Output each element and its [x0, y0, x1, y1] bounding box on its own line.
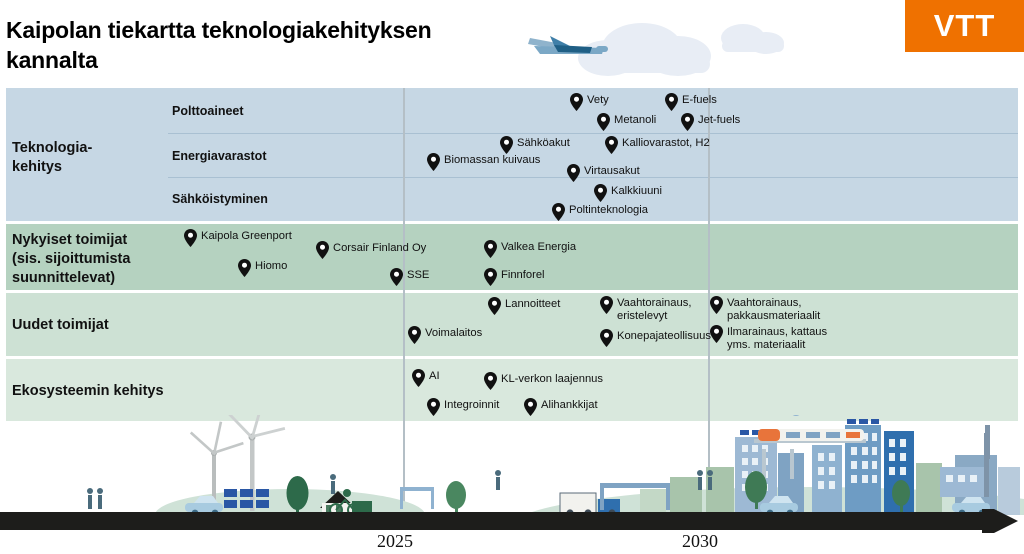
- pin-label: AI: [429, 369, 440, 383]
- landscape-illustration: [0, 415, 1024, 515]
- map-pin-icon: [597, 113, 610, 131]
- map-pin-icon: [605, 136, 618, 154]
- map-pin-icon: [594, 184, 607, 202]
- roadmap-infographic: Kaipolan tiekartta teknologiakehityksen …: [0, 0, 1024, 554]
- pin-label: Vety: [587, 93, 609, 107]
- map-pin-icon: [484, 268, 497, 286]
- pin-label: Biomassan kuivaus: [444, 153, 540, 167]
- map-pin-icon: [484, 372, 497, 390]
- subrow-label-sahkoistyminen: Sähköistyminen: [172, 192, 268, 206]
- pin-label: Kalliovarastot, H2: [622, 136, 710, 150]
- pin-marker[interactable]: Vety: [570, 93, 609, 111]
- vtt-logo: VTT: [905, 0, 1024, 52]
- pin-label: Finnforel: [501, 268, 545, 282]
- pin-label: KL-verkon laajennus: [501, 372, 603, 386]
- subrow-label-polttoaineet: Polttoaineet: [172, 104, 244, 118]
- map-pin-icon: [316, 241, 329, 259]
- map-pin-icon: [600, 329, 613, 347]
- map-pin-icon: [710, 325, 723, 343]
- map-pin-icon: [427, 153, 440, 171]
- pin-marker[interactable]: Hiomo: [238, 259, 287, 277]
- pin-marker[interactable]: Valkea Energia: [484, 240, 576, 258]
- map-pin-icon: [710, 296, 723, 314]
- pin-label: Kalkkiuuni: [611, 184, 662, 198]
- pin-marker[interactable]: Biomassan kuivaus: [427, 153, 540, 171]
- pin-marker[interactable]: Finnforel: [484, 268, 545, 286]
- cloud-large-icon: [578, 23, 711, 76]
- pin-label: Virtausakut: [584, 164, 640, 178]
- pin-marker[interactable]: Kalliovarastot, H2: [605, 136, 710, 154]
- pin-label: Valkea Energia: [501, 240, 576, 254]
- left-countryside: [155, 415, 425, 515]
- pin-marker[interactable]: Jet-fuels: [681, 113, 740, 131]
- pin-marker[interactable]: Vaahtorainaus, eristelevyt: [600, 296, 691, 323]
- pin-label: Lannoitteet: [505, 297, 560, 311]
- row-label-new-operators: Uudet toimijat: [12, 316, 109, 335]
- pin-marker[interactable]: Lannoitteet: [488, 297, 560, 315]
- pin-label: Konepajateollisuus: [617, 329, 711, 343]
- pin-marker[interactable]: Virtausakut: [567, 164, 640, 182]
- page-title: Kaipolan tiekartta teknologiakehityksen …: [6, 16, 526, 76]
- pin-label: Metanoli: [614, 113, 656, 127]
- pin-label: Alihankkijat: [541, 398, 598, 412]
- pin-marker[interactable]: Vaahtorainaus, pakkausmateriaalit: [710, 296, 820, 323]
- pin-label: Corsair Finland Oy: [333, 241, 426, 255]
- pin-marker[interactable]: Poltinteknologia: [552, 203, 648, 221]
- pin-marker[interactable]: Konepajateollisuus: [600, 329, 711, 347]
- map-pin-icon: [552, 203, 565, 221]
- pin-label: Voimalaitos: [425, 326, 482, 340]
- pin-label: E-fuels: [682, 93, 717, 107]
- map-pin-icon: [488, 297, 501, 315]
- pin-label: Sähköakut: [517, 136, 570, 150]
- map-pin-icon: [184, 229, 197, 247]
- map-pin-icon: [238, 259, 251, 277]
- pin-marker[interactable]: Metanoli: [597, 113, 656, 131]
- timeline-tick-label: 2025: [377, 531, 413, 552]
- airplane-icon: [528, 36, 608, 54]
- vtt-logo-text: VTT: [934, 8, 996, 44]
- drone-icon: [790, 415, 802, 416]
- pin-label: Vaahtorainaus, eristelevyt: [617, 296, 691, 323]
- map-pin-icon: [570, 93, 583, 111]
- pin-marker[interactable]: Kalkkiuuni: [594, 184, 662, 202]
- timeline-tick-label: 2030: [682, 531, 718, 552]
- map-pin-icon: [500, 136, 513, 154]
- pin-marker[interactable]: Voimalaitos: [408, 326, 482, 344]
- map-pin-icon: [665, 93, 678, 111]
- pin-label: Integroinnit: [444, 398, 499, 412]
- sky-illustration: [500, 0, 910, 88]
- timeline-axis: [0, 509, 1024, 533]
- subrow-label-energiavarastot: Energiavarastot: [172, 149, 266, 163]
- pin-label: Vaahtorainaus, pakkausmateriaalit: [727, 296, 820, 323]
- divider-tech-1: [168, 133, 1018, 134]
- pin-marker[interactable]: AI: [412, 369, 440, 387]
- cloud-small-icon: [721, 24, 784, 54]
- row-label-current-operators: Nykyiset toimijat (sis. sijoittumista su…: [12, 231, 130, 288]
- pin-marker[interactable]: Kaipola Greenport: [184, 229, 292, 247]
- pin-marker[interactable]: Sähköakut: [500, 136, 570, 154]
- row-label-technology: Teknologia- kehitys: [12, 139, 92, 177]
- pin-label: Jet-fuels: [698, 113, 740, 127]
- pin-marker[interactable]: SSE: [390, 268, 429, 286]
- row-label-ecosystem: Ekosysteemin kehitys: [12, 382, 164, 401]
- map-pin-icon: [484, 240, 497, 258]
- map-pin-icon: [408, 326, 421, 344]
- pin-marker[interactable]: KL-verkon laajennus: [484, 372, 603, 390]
- map-pin-icon: [600, 296, 613, 314]
- pin-marker[interactable]: Alihankkijat: [524, 398, 598, 416]
- map-pin-icon: [524, 398, 537, 416]
- map-pin-icon: [412, 369, 425, 387]
- pin-marker[interactable]: Corsair Finland Oy: [316, 241, 426, 259]
- pin-label: SSE: [407, 268, 429, 282]
- map-pin-icon: [427, 398, 440, 416]
- pin-marker[interactable]: Integroinnit: [427, 398, 499, 416]
- pin-label: Ilmarainaus, kattaus yms. materiaalit: [727, 325, 827, 352]
- map-pin-icon: [390, 268, 403, 286]
- map-pin-icon: [567, 164, 580, 182]
- pin-label: Hiomo: [255, 259, 287, 273]
- map-pin-icon: [681, 113, 694, 131]
- pin-label: Poltinteknologia: [569, 203, 648, 217]
- pin-label: Kaipola Greenport: [201, 229, 292, 243]
- pin-marker[interactable]: E-fuels: [665, 93, 717, 111]
- pin-marker[interactable]: Ilmarainaus, kattaus yms. materiaalit: [710, 325, 827, 352]
